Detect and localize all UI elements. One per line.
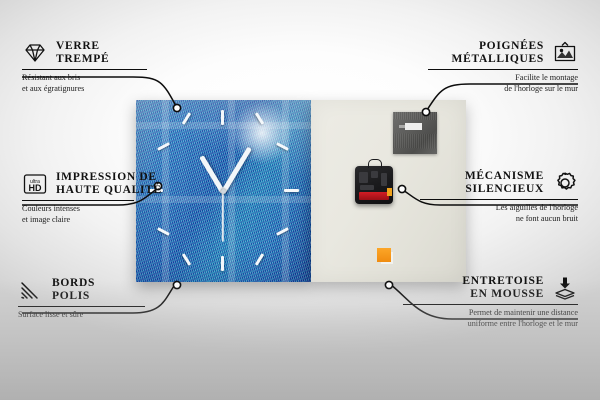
callout-description: Couleurs intenses et image claire [22, 204, 182, 225]
hanger-slot [405, 123, 422, 130]
battery-terminal [387, 188, 392, 196]
metal-hanger-part [393, 112, 437, 154]
callout-header: MÉCANISME SILENCIEUX [420, 170, 578, 196]
clock-second-hand [222, 192, 224, 242]
mechanism-detail [371, 171, 378, 178]
foam-spacer-part [377, 248, 391, 262]
callout-title: IMPRESSION DE HAUTE QUALITÉ [56, 171, 162, 197]
callout-rule [420, 199, 578, 200]
callout-mecanisme-silencieux: MÉCANISME SILENCIEUX Les aiguilles de l'… [420, 170, 578, 224]
callout-description: Résistant aux bris et aux égratignures [22, 73, 172, 94]
clock-tick [284, 189, 299, 192]
callout-header: ultra HD IMPRESSION DE HAUTE QUALITÉ [22, 171, 182, 197]
callout-rule [428, 69, 578, 70]
callout-rule [22, 69, 147, 70]
connector-marker-bords-polis [173, 281, 180, 288]
callout-description: Les aiguilles de l'horloge ne font aucun… [420, 203, 578, 224]
callout-rule [18, 306, 145, 307]
clock-mechanism-part [355, 166, 393, 204]
mechanism-hook [368, 159, 382, 168]
diamond-icon [22, 40, 48, 66]
callout-verre-trempe: VERRE TREMPÉ Résistant aux bris et aux é… [22, 40, 172, 94]
callout-title: ENTRETOISE EN MOUSSE [462, 275, 544, 301]
picture-hanger-icon [552, 40, 578, 66]
callout-impression-haute-qualite: ultra HD IMPRESSION DE HAUTE QUALITÉ Cou… [22, 171, 182, 225]
polished-edges-icon [18, 277, 44, 303]
callout-poignees-metalliques: POIGNÉES MÉTALLIQUES Facilite le montage… [428, 40, 578, 94]
infographic-canvas: VERRE TREMPÉ Résistant aux bris et aux é… [0, 0, 600, 400]
callout-entretoise-en-mousse: ENTRETOISE EN MOUSSE Permet de maintenir… [403, 275, 578, 329]
callout-header: ENTRETOISE EN MOUSSE [403, 275, 578, 301]
callout-description: Facilite le montage de l'horloge sur le … [428, 73, 578, 94]
connector-marker-entretoise [385, 281, 392, 288]
callout-description: Surface lisse et sûre [18, 310, 168, 320]
callout-title: POIGNÉES MÉTALLIQUES [452, 40, 544, 66]
clock-tick [221, 256, 224, 271]
mechanism-detail [381, 173, 387, 186]
callout-header: POIGNÉES MÉTALLIQUES [428, 40, 578, 66]
clock-hub [221, 189, 226, 194]
mechanism-detail [359, 172, 368, 183]
gear-icon [552, 170, 578, 196]
callout-title: BORDS POLIS [52, 277, 95, 303]
callout-rule [22, 200, 134, 201]
mechanism-detail [360, 185, 374, 190]
battery-part [359, 192, 389, 200]
product-image [136, 100, 466, 282]
foam-spacer-icon [552, 275, 578, 301]
callout-title: MÉCANISME SILENCIEUX [465, 170, 544, 196]
clock-tick [221, 110, 224, 125]
ultra-hd-icon: ultra HD [22, 171, 48, 197]
callout-rule [403, 304, 578, 305]
callout-description: Permet de maintenir une distance uniform… [403, 308, 578, 329]
callout-header: VERRE TREMPÉ [22, 40, 172, 66]
callout-header: BORDS POLIS [18, 277, 168, 303]
ultra-hd-icon-main: HD [29, 183, 42, 193]
callout-bords-polis: BORDS POLIS Surface lisse et sûre [18, 277, 168, 321]
callout-title: VERRE TREMPÉ [56, 40, 109, 66]
